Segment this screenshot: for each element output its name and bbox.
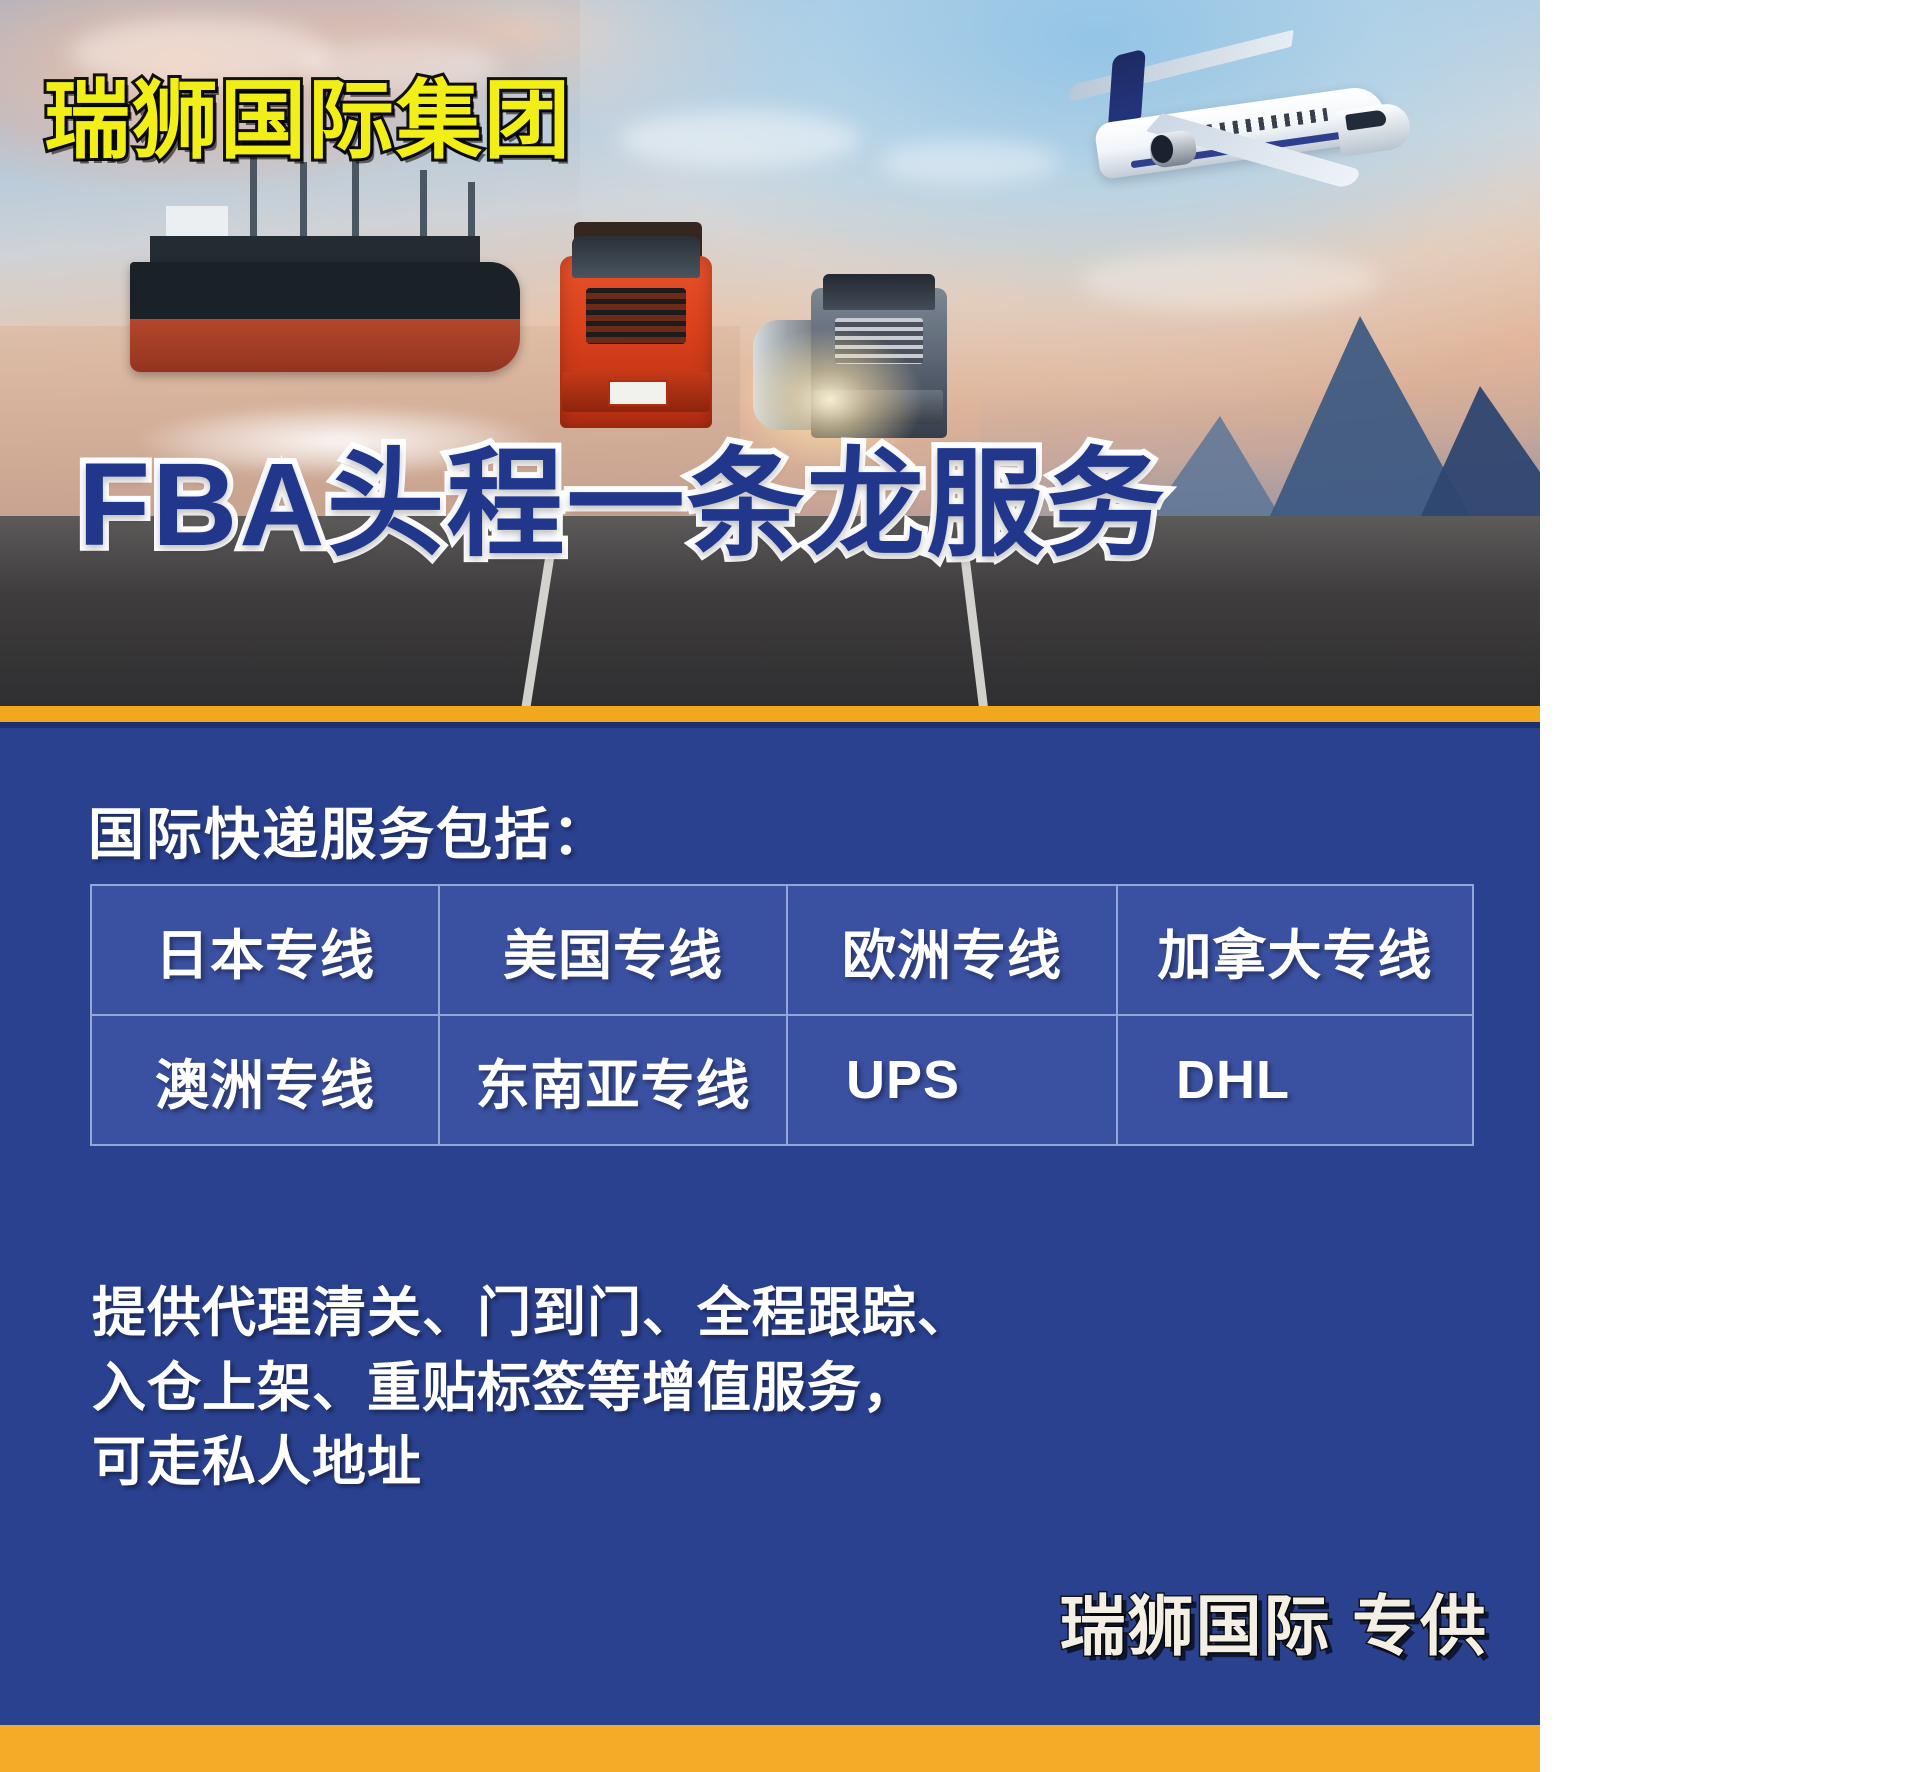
bottom-accent-bar bbox=[0, 1725, 1540, 1772]
ship-hull bbox=[130, 262, 520, 372]
ship-crane-icon bbox=[420, 170, 427, 242]
service-cell-dhl[interactable]: DHL bbox=[1117, 1015, 1473, 1145]
feature-line-2: 入仓上架、重贴标签等增值服务， bbox=[92, 1351, 972, 1426]
service-cell-europe[interactable]: 欧洲专线 bbox=[787, 885, 1117, 1015]
truck-windshield bbox=[572, 236, 700, 278]
service-cell-ups[interactable]: UPS bbox=[787, 1015, 1117, 1145]
poster-root: 瑞狮国际集团 FBA头程一条龙服务 国际快递服务包括： 日本专线 美国专线 欧洲… bbox=[0, 0, 1540, 1772]
feature-line-3: 可走私人地址 bbox=[92, 1425, 972, 1500]
service-cell-canada[interactable]: 加拿大专线 bbox=[1117, 885, 1473, 1015]
truck-grille bbox=[835, 318, 923, 364]
cargo-airplane-icon bbox=[1000, 20, 1420, 210]
service-cell-usa[interactable]: 美国专线 bbox=[439, 885, 787, 1015]
section-title: 国际快递服务包括： bbox=[88, 790, 610, 871]
red-semi-truck-icon bbox=[552, 222, 722, 452]
truck-grille bbox=[586, 288, 686, 344]
service-cell-southeast-asia[interactable]: 东南亚专线 bbox=[439, 1015, 787, 1145]
ship-crane-icon bbox=[468, 182, 475, 242]
plane-tail-fin bbox=[1108, 48, 1146, 125]
feature-line-1: 提供代理清关、门到门、全程跟踪、 bbox=[92, 1276, 972, 1351]
truck-bumper bbox=[813, 390, 943, 424]
ship-crane-icon bbox=[300, 162, 307, 242]
table-row: 日本专线 美国专线 欧洲专线 加拿大专线 bbox=[91, 885, 1473, 1015]
value-added-services-list: 提供代理清关、门到门、全程跟踪、 入仓上架、重贴标签等增值服务， 可走私人地址 bbox=[92, 1276, 972, 1500]
truck-windshield bbox=[823, 274, 935, 310]
hero-headline: FBA头程一条龙服务 bbox=[78, 446, 1167, 564]
grey-tanker-truck-icon bbox=[805, 262, 955, 452]
service-cell-australia[interactable]: 澳洲专线 bbox=[91, 1015, 439, 1145]
truck-license-plate bbox=[608, 380, 668, 406]
cloud-icon bbox=[1080, 250, 1380, 312]
service-cell-japan[interactable]: 日本专线 bbox=[91, 885, 439, 1015]
gold-divider-bar bbox=[0, 706, 1540, 722]
hero-photo-banner: 瑞狮国际集团 FBA头程一条龙服务 bbox=[0, 0, 1540, 716]
plane-rear-wing bbox=[1068, 30, 1294, 103]
footer-brand-text: 瑞狮国际 专供 bbox=[1060, 1573, 1488, 1669]
service-lines-table: 日本专线 美国专线 欧洲专线 加拿大专线 澳洲专线 东南亚专线 UPS DHL bbox=[90, 884, 1474, 1146]
company-logo-text: 瑞狮国际集团 bbox=[44, 78, 572, 164]
info-panel: 国际快递服务包括： 日本专线 美国专线 欧洲专线 加拿大专线 澳洲专线 东南亚专… bbox=[0, 728, 1540, 1725]
table-row: 澳洲专线 东南亚专线 UPS DHL bbox=[91, 1015, 1473, 1145]
cloud-icon bbox=[620, 110, 860, 168]
